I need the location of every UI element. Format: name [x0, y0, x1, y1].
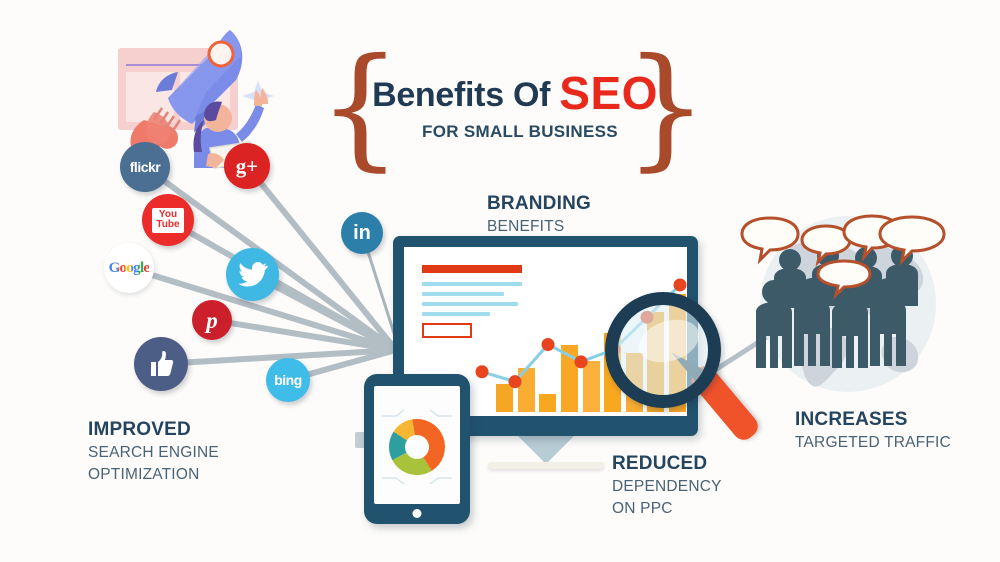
label-reduced-line2: ON PPC: [612, 498, 722, 520]
title-prefix: Benefits Of: [372, 76, 559, 114]
line-chart-marker: [509, 375, 522, 388]
tablet-device: [364, 374, 470, 524]
monitor-stand-neck: [516, 434, 576, 464]
label-increases-traffic: INCREASES TARGETED TRAFFIC: [795, 408, 951, 454]
label-reduced-line1: DEPENDENCY: [612, 476, 722, 498]
label-improved-seo: IMPROVED SEARCH ENGINE OPTIMIZATION: [88, 418, 219, 487]
label-improved-line2: OPTIMIZATION: [88, 464, 219, 486]
youtube-wordmark: YouTube: [152, 208, 183, 233]
monitor-stand-base: [488, 462, 604, 469]
label-reduced-dependency: REDUCED DEPENDENCY ON PPC: [612, 452, 722, 521]
social-icon-google[interactable]: Google: [104, 243, 154, 293]
line-chart-marker: [476, 365, 489, 378]
linkedin-label: in: [353, 223, 371, 243]
label-branding-lead: BRANDING: [487, 192, 591, 216]
social-icon-youtube[interactable]: YouTube: [142, 194, 194, 246]
page-subtitle: FOR SMALL BUSINESS: [370, 122, 670, 142]
label-increases-lead: INCREASES: [795, 408, 951, 432]
label-improved-lead: IMPROVED: [88, 418, 219, 442]
flickr-label: flickr: [130, 160, 160, 174]
social-icon-linkedin[interactable]: in: [341, 212, 383, 254]
thumbs-up-icon: [146, 349, 176, 379]
bing-label: bing: [274, 373, 302, 387]
screen-cta-button[interactable]: [422, 323, 472, 338]
social-icon-bing[interactable]: bing: [266, 358, 310, 402]
line-chart-marker: [575, 355, 588, 368]
googleplus-label: g+: [236, 156, 258, 177]
tablet-side-button[interactable]: [355, 432, 364, 448]
label-branding-benefits: BRANDING BENEFITS: [487, 192, 591, 238]
social-icon-flickr[interactable]: flickr: [120, 142, 170, 192]
infographic-canvas: flickr g+ YouTube Google in p bing { } B…: [0, 0, 1000, 562]
magnifier-glare: [633, 312, 704, 369]
page-title-block: { } Benefits Of SEO FOR SMALL BUSINESS: [318, 52, 708, 164]
label-reduced-lead: REDUCED: [612, 452, 722, 476]
social-icon-pinterest[interactable]: p: [192, 300, 232, 340]
line-chart-marker: [674, 278, 687, 291]
line-chart-marker: [542, 338, 555, 351]
pinterest-label: p: [206, 309, 218, 332]
social-icon-googleplus[interactable]: g+: [224, 143, 270, 189]
donut-chart: [374, 386, 460, 504]
google-label: Google: [109, 261, 150, 276]
page-title: Benefits Of SEO: [370, 66, 660, 120]
tablet-screen: [374, 386, 460, 504]
label-increases-line1: TARGETED TRAFFIC: [795, 432, 951, 454]
label-improved-line1: SEARCH ENGINE: [88, 442, 219, 464]
tablet-home-button[interactable]: [413, 509, 422, 518]
social-icon-facebook[interactable]: [134, 337, 188, 391]
magnifier-ring: [605, 292, 721, 408]
title-accent: SEO: [559, 67, 658, 119]
twitter-bird-icon: [238, 262, 268, 288]
label-branding-line1: BENEFITS: [487, 216, 591, 238]
social-icon-twitter[interactable]: [226, 248, 279, 301]
audience-illustration: [740, 212, 950, 407]
